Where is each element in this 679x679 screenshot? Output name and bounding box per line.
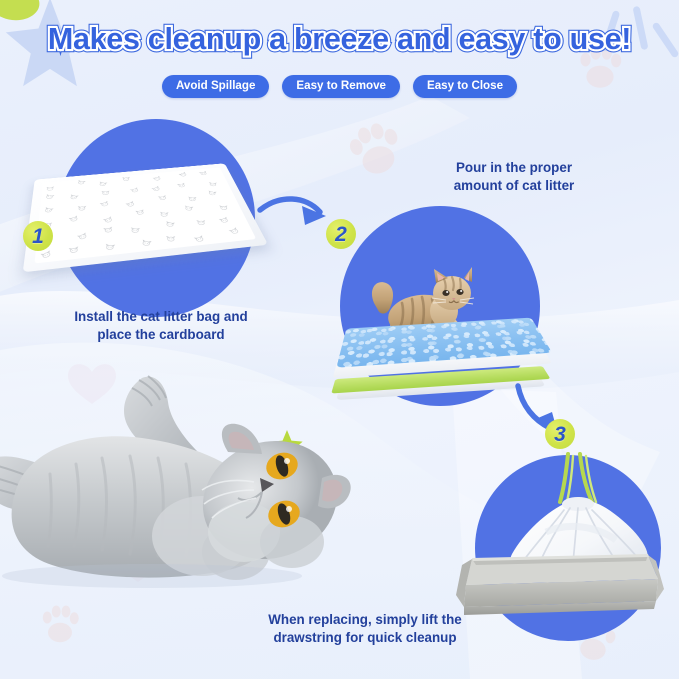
- cat-face-print: [151, 185, 162, 192]
- cat-face-print: [42, 207, 53, 213]
- cat-face-print: [219, 205, 229, 210]
- step-3-caption: When replacing, simply lift the drawstri…: [221, 611, 509, 647]
- step-1-illustration: [18, 125, 268, 315]
- infographic-canvas: Makes cleanup a breeze and easy to use! …: [0, 0, 679, 679]
- cat-face-print: [68, 194, 79, 200]
- step-2-caption: Pour in the proper amount of cat litter: [396, 159, 632, 195]
- badge-easy-to-close[interactable]: Easy to Close: [413, 75, 517, 98]
- mascot-gray-cat: [0, 366, 392, 616]
- cat-face-print: [198, 171, 208, 176]
- liner-cat-face-pattern: [34, 168, 256, 264]
- cat-face-print: [100, 200, 111, 207]
- cat-face-print: [209, 182, 218, 187]
- feature-badge-row: Avoid Spillage Easy to Remove Easy to Cl…: [0, 75, 679, 98]
- litter-bag-liner: [23, 163, 268, 272]
- cat-face-print: [125, 201, 136, 208]
- step-1-caption: Install the cat litter bag and place the…: [30, 308, 292, 344]
- cat-face-print: [76, 232, 88, 241]
- cat-face-print: [228, 227, 241, 236]
- gray-tray-illustration: [452, 545, 668, 617]
- cat-face-print: [184, 205, 194, 212]
- cat-face-print: [130, 227, 140, 234]
- cat-face-print: [68, 246, 79, 254]
- cat-face-print: [46, 186, 55, 191]
- cat-face-print: [188, 196, 197, 202]
- page-headline: Makes cleanup a breeze and easy to use!: [0, 22, 679, 57]
- cat-face-print: [134, 209, 145, 216]
- cat-face-print: [207, 190, 216, 196]
- cat-face-print: [178, 171, 188, 177]
- cat-face-print: [152, 175, 162, 181]
- cat-face-print: [98, 181, 108, 186]
- cat-face-print: [122, 176, 131, 181]
- cat-face-print: [140, 239, 152, 247]
- cat-face-print: [193, 234, 206, 242]
- cat-face-print: [196, 219, 206, 225]
- cat-face-print: [40, 250, 53, 260]
- cat-face-print: [103, 226, 114, 233]
- cat-face-print: [68, 215, 79, 223]
- cat-face-print: [101, 190, 110, 195]
- step-1-number-badge: 1: [23, 221, 53, 251]
- badge-easy-to-remove[interactable]: Easy to Remove: [282, 75, 400, 98]
- step-3-number-badge: 3: [545, 419, 575, 449]
- cat-face-print: [157, 195, 167, 201]
- step-2-number-badge: 2: [326, 219, 356, 249]
- cat-face-print: [44, 194, 55, 200]
- cat-face-print: [159, 211, 169, 217]
- cat-face-print: [77, 205, 86, 211]
- cat-face-print: [130, 187, 141, 194]
- cat-face-print: [102, 216, 114, 224]
- cat-face-print: [176, 182, 186, 188]
- cat-face-print: [105, 243, 116, 250]
- cat-face-print: [164, 221, 175, 228]
- cat-face-print: [218, 216, 230, 224]
- cat-face-print: [76, 180, 86, 185]
- badge-avoid-spillage[interactable]: Avoid Spillage: [162, 75, 269, 98]
- cat-face-print: [166, 236, 176, 242]
